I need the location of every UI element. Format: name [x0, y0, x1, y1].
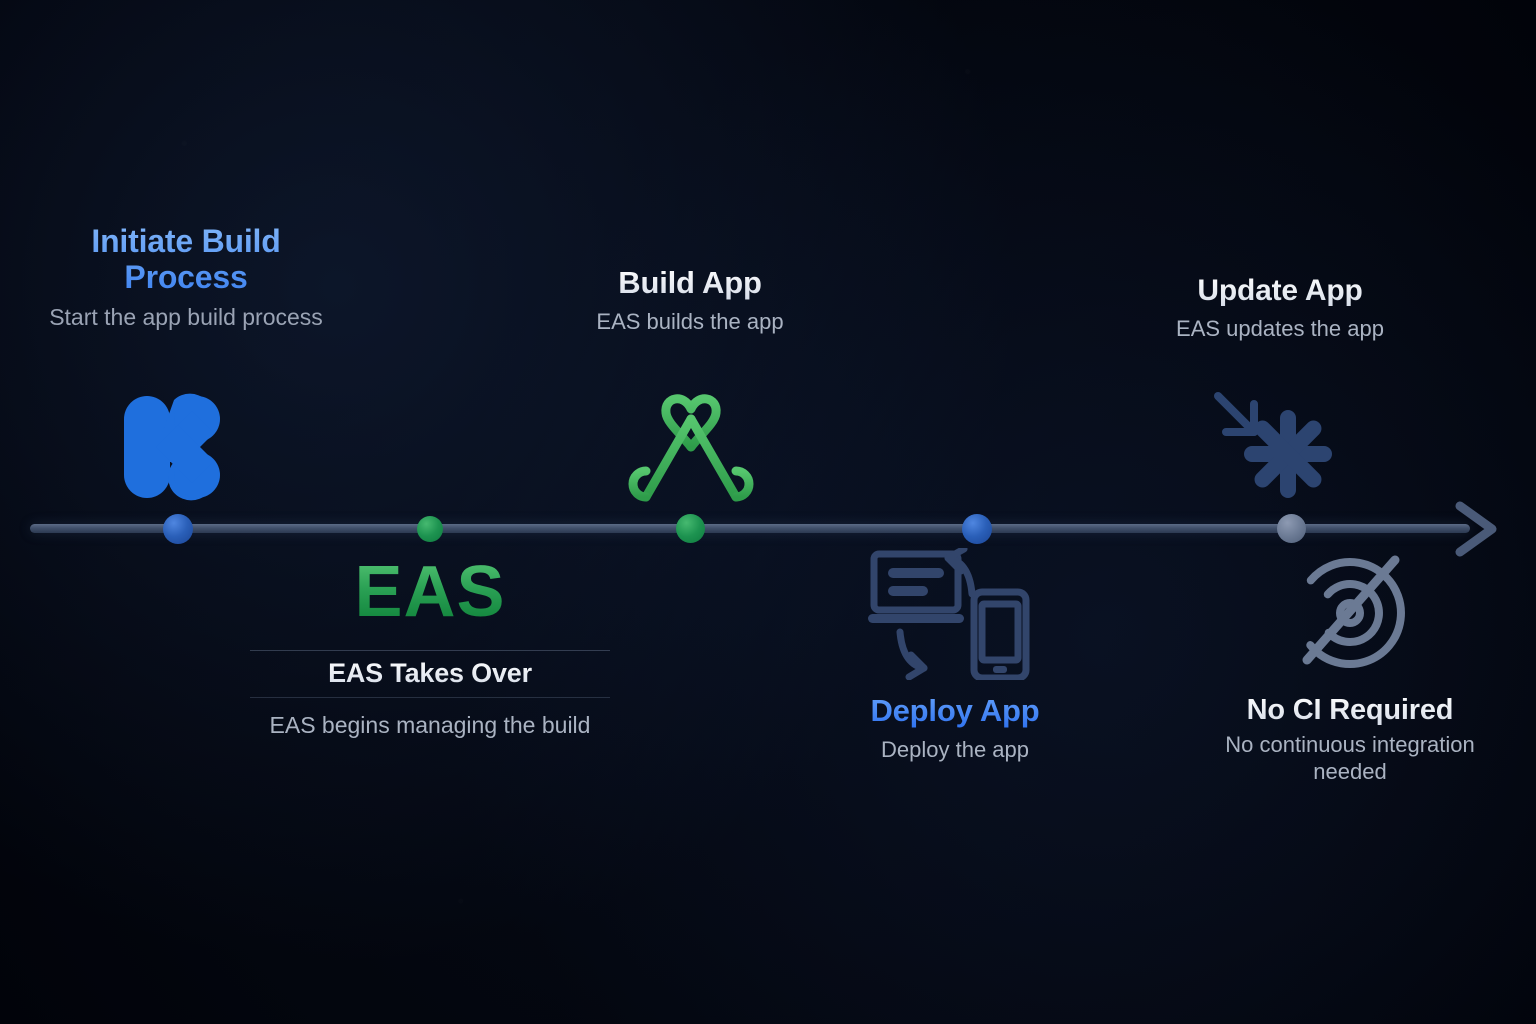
no-ci-slashed-circles-icon: [1285, 548, 1415, 676]
laptop-phone-sync-icon: [866, 548, 1034, 680]
step-update-app-text: Update App EAS updates the app: [1145, 274, 1415, 342]
step-deploy-app-text: Deploy App Deploy the app: [830, 694, 1080, 763]
step-subtitle-build-app: EAS builds the app: [545, 309, 835, 335]
step-eas-takes-over-text: EAS EAS Takes Over EAS begins managing t…: [250, 556, 610, 741]
milestone-dot-eas-takes-over[interactable]: [417, 516, 443, 542]
milestone-dot-update-app[interactable]: [1277, 514, 1306, 543]
kickstarter-k-logo-icon: [118, 388, 230, 506]
step-title-update-app: Update App: [1145, 274, 1415, 308]
step-title-eas-takes-over: EAS Takes Over: [250, 658, 610, 688]
step-title-build-app: Build App: [545, 266, 835, 301]
step-title-no-ci-required: No CI Required: [1215, 694, 1485, 726]
eas-wordmark: EAS: [250, 556, 610, 628]
milestone-dot-initiate-build[interactable]: [163, 514, 193, 544]
sparkle-download-arrow-icon: [1212, 388, 1342, 508]
step-initiate-build-text: Initiate Build Process Start the app bui…: [36, 224, 336, 331]
step-build-app-text: Build App EAS builds the app: [545, 266, 835, 335]
step-subtitle-eas-takes-over: EAS begins managing the build: [250, 710, 610, 741]
step-no-ci-required-text: No CI Required No continuous integration…: [1215, 694, 1485, 785]
step-subtitle-update-app: EAS updates the app: [1145, 316, 1415, 342]
step-title-initiate-build: Initiate Build Process: [36, 224, 336, 296]
milestone-dot-deploy-app[interactable]: [962, 514, 992, 544]
step-title-deploy-app: Deploy App: [830, 694, 1080, 729]
step-subtitle-initiate-build: Start the app build process: [36, 304, 336, 332]
arrow-right-chevron-icon: [1452, 494, 1512, 564]
timeline-diagram: Initiate Build Process Start the app bui…: [0, 0, 1536, 1024]
milestone-dot-build-app[interactable]: [676, 514, 705, 543]
timeline-axis: [30, 524, 1470, 533]
app-store-icon: [622, 385, 760, 515]
step-subtitle-no-ci-required: No continuous integration needed: [1215, 732, 1485, 785]
eas-divider-heading: EAS Takes Over: [250, 650, 610, 698]
step-subtitle-deploy-app: Deploy the app: [830, 737, 1080, 763]
